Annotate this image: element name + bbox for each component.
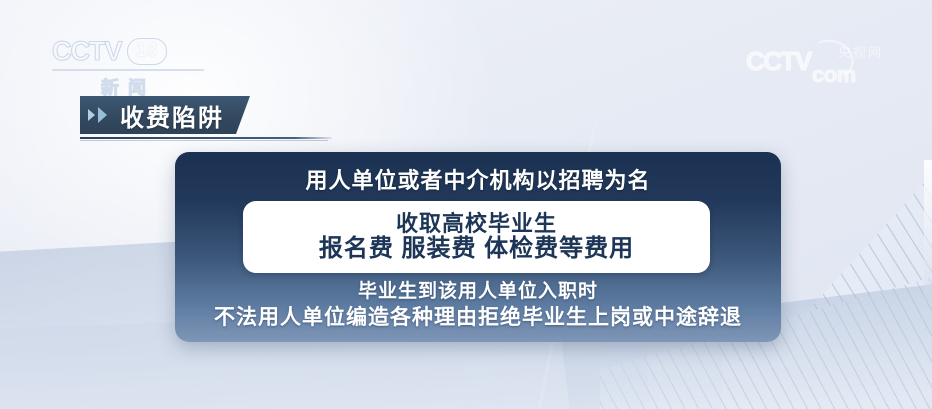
highlight-line-2: 报名费 服装费 体检费等费用: [319, 236, 634, 262]
card-headline: 用人单位或者中介机构以招聘为名: [175, 163, 781, 195]
play-triangle-icon: [88, 109, 95, 121]
footer-line-2: 不法用人单位编造各种理由拒绝毕业生上岗或中途辞退: [175, 305, 781, 331]
background-right-pillar: [924, 160, 932, 300]
banner-underline: [80, 137, 332, 139]
cctv13-logo-row: CCTV 13: [52, 36, 212, 66]
highlight-line-1: 收取高校毕业生: [396, 212, 557, 236]
watermark-cctv-text: CCTV: [746, 46, 811, 77]
banner-arrow-group: [88, 96, 107, 134]
cctv-com-watermark: CCTV 央视网 com: [746, 40, 908, 88]
info-card: 用人单位或者中介机构以招聘为名 收取高校毕业生 报名费 服装费 体检费等费用 毕…: [175, 152, 781, 342]
broadcast-screen: CCTV 13 新闻 CCTV 央视网 com 收费陷阱 用人单位或者中介机构以…: [0, 0, 932, 409]
topic-banner-title: 收费陷阱: [120, 98, 224, 133]
footer-line-1: 毕业生到该用人单位入职时: [175, 280, 781, 303]
card-footer: 毕业生到该用人单位入职时 不法用人单位编造各种理由拒绝毕业生上岗或中途辞退: [175, 280, 781, 331]
play-triangle-icon: [98, 107, 107, 123]
logo-divider-bar: [52, 69, 204, 71]
topic-banner: 收费陷阱: [80, 96, 250, 134]
watermark-cn-text: 央视网: [838, 42, 883, 61]
cctv13-channel-logo: CCTV 13 新闻: [52, 36, 212, 92]
cctv-wordmark: CCTV: [52, 36, 122, 67]
banner-underline-secondary: [80, 140, 328, 141]
card-highlight-box: 收取高校毕业生 报名费 服装费 体检费等费用: [243, 201, 710, 273]
channel-number-badge: 13: [127, 38, 167, 65]
topic-banner-plate: 收费陷阱: [80, 96, 250, 134]
watermark-com-text: com: [812, 62, 856, 88]
